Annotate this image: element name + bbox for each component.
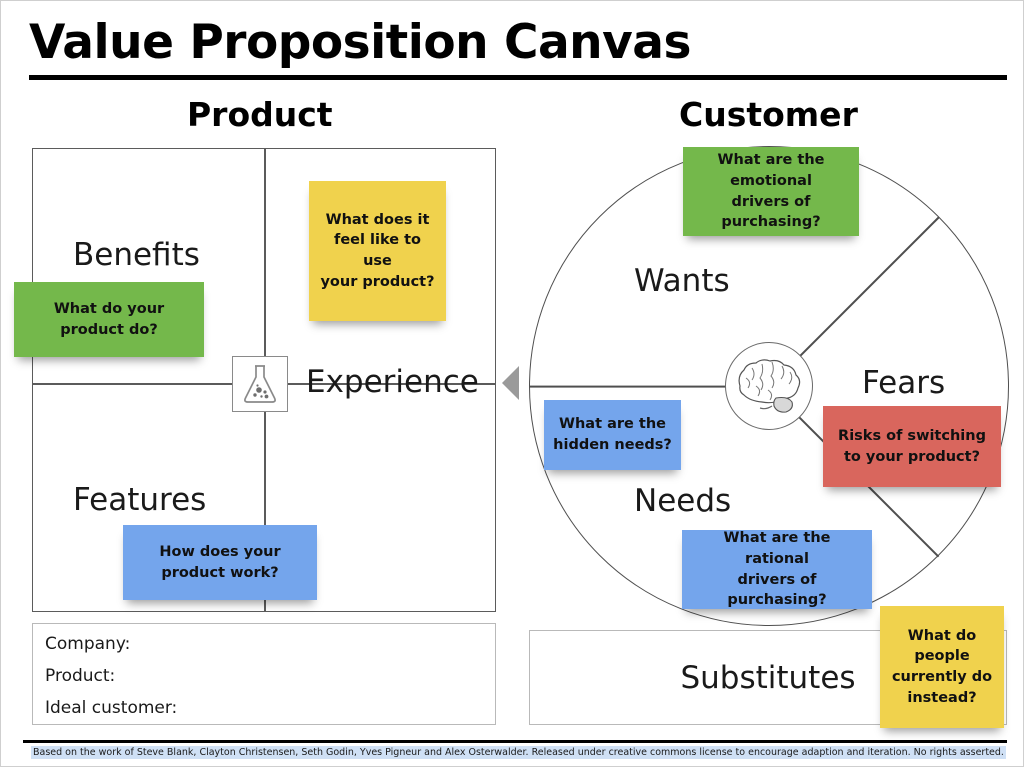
- sticky-note-fears[interactable]: Risks of switchingto your product?: [823, 406, 1001, 487]
- flask-icon-box: [232, 356, 288, 412]
- sticky-note-experience[interactable]: What does itfeel like to useyour product…: [309, 181, 446, 321]
- segment-label-wants: Wants: [634, 263, 730, 299]
- column-heading-customer: Customer: [679, 95, 858, 134]
- footer-divider: [23, 740, 1007, 743]
- product-label: Product:: [45, 666, 483, 686]
- sticky-note-rational[interactable]: What are the rationaldrivers of purchasi…: [682, 530, 872, 609]
- brain-icon: [732, 356, 806, 416]
- quadrant-label-benefits: Benefits: [73, 237, 200, 273]
- quadrant-label-features: Features: [73, 482, 206, 518]
- sticky-note-substitutes[interactable]: What do peoplecurrently doinstead?: [880, 606, 1004, 728]
- value-proposition-canvas: Value Proposition Canvas Product Custome…: [0, 0, 1024, 767]
- page-title: Value Proposition Canvas: [29, 15, 691, 70]
- ideal-customer-label: Ideal customer:: [45, 698, 483, 718]
- left-arrow-icon: [502, 366, 519, 400]
- segment-label-needs: Needs: [634, 483, 731, 519]
- sticky-note-benefits[interactable]: What do yourproduct do?: [14, 282, 204, 357]
- flask-icon: [240, 363, 280, 405]
- title-divider: [29, 75, 1007, 80]
- footer-attribution: Based on the work of Steve Blank, Clayto…: [31, 746, 1006, 759]
- brain-icon-circle: [725, 342, 813, 430]
- quadrant-label-experience: Experience: [306, 364, 479, 400]
- sticky-note-wants[interactable]: What are the emotionaldrivers of purchas…: [683, 147, 859, 236]
- sticky-note-hidden-needs[interactable]: What are thehidden needs?: [544, 400, 681, 470]
- sticky-note-features[interactable]: How does yourproduct work?: [123, 525, 317, 600]
- substitutes-label: Substitutes: [680, 660, 855, 696]
- column-heading-product: Product: [187, 95, 333, 134]
- company-info-box: Company: Product: Ideal customer:: [32, 623, 496, 725]
- segment-label-fears: Fears: [862, 365, 945, 401]
- company-label: Company:: [45, 634, 483, 654]
